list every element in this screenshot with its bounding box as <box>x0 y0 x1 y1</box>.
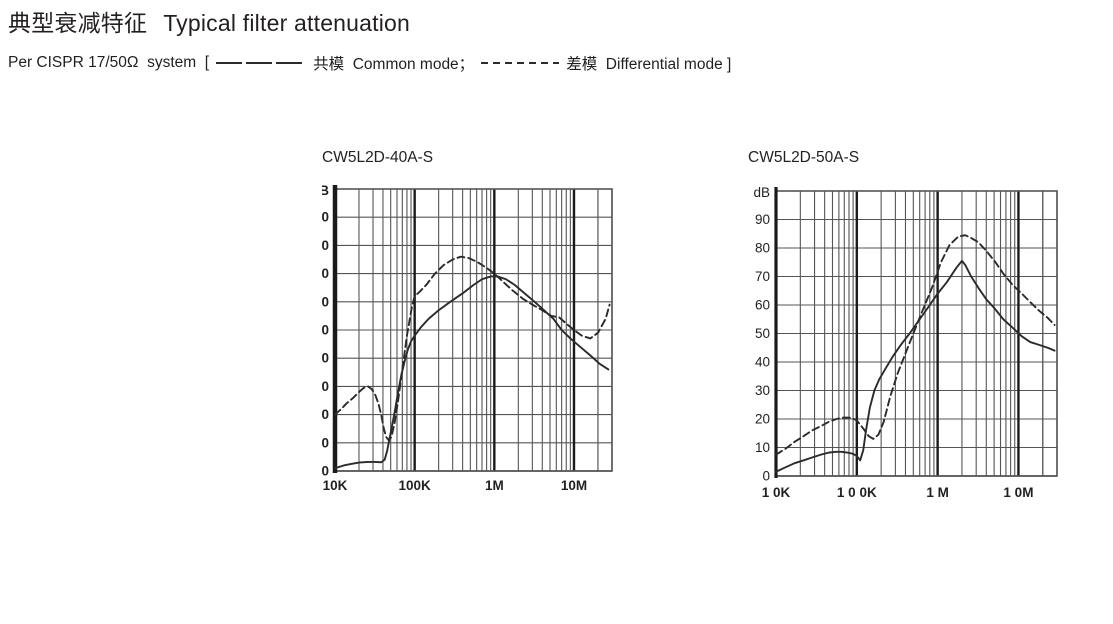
y-tick-label: 10 <box>755 440 770 455</box>
x-tick-label: 1 M <box>926 485 949 500</box>
y-tick-label: 50 <box>322 323 329 338</box>
plot-area: 0102030405060708090dB10K100K1M10M <box>322 182 620 499</box>
chart-title: CW5L2D-50A-S <box>748 149 859 167</box>
common-mode-curve <box>335 276 608 468</box>
page-title-en: Typical filter attenuation <box>163 10 410 36</box>
page-title: 典型衰减特征Typical filter attenuation <box>8 4 410 38</box>
grid <box>776 191 1057 476</box>
y-tick-label: 90 <box>755 212 770 227</box>
y-tick-label: 80 <box>322 238 329 253</box>
x-tick-label: 1M <box>485 478 504 493</box>
y-tick-label: 0 <box>762 469 770 484</box>
y-tick-label: 20 <box>322 407 329 422</box>
x-tick-label: 1 0K <box>762 485 791 500</box>
y-axis-unit-label: dB <box>753 185 770 200</box>
differential-mode-line-swatch <box>481 62 559 64</box>
page-title-cn: 典型衰减特征 <box>8 10 147 36</box>
differential-mode-curve <box>776 235 1055 454</box>
y-tick-label: 30 <box>322 379 329 394</box>
plot-area: 0102030405060708090dB1 0K1 0 0K1 M1 0M <box>748 182 1065 506</box>
y-tick-label: 70 <box>322 266 329 281</box>
common-mode-line-swatch <box>216 62 306 64</box>
x-tick-label: 10K <box>323 478 348 493</box>
x-tick-label: 10M <box>561 478 587 493</box>
plot-svg: 0102030405060708090dB1 0K1 0 0K1 M1 0M <box>748 182 1065 506</box>
y-tick-label: 40 <box>322 351 329 366</box>
y-tick-label: 0 <box>322 464 329 479</box>
chart-title: CW5L2D-40A-S <box>322 149 433 167</box>
y-tick-label: 60 <box>322 294 329 309</box>
x-tick-label: 1 0 0K <box>837 485 877 500</box>
legend-differential-mode-label: 差模 Differential mode ] <box>566 52 731 74</box>
plot-svg: 0102030405060708090dB10K100K1M10M <box>322 182 620 499</box>
x-tick-label: 1 0M <box>1003 485 1033 500</box>
legend: Per CISPR 17/50Ω system [ 共模 Common mode… <box>8 52 731 74</box>
y-tick-label: 90 <box>322 210 329 225</box>
x-tick-label: 100K <box>399 478 432 493</box>
y-tick-label: 30 <box>755 383 770 398</box>
y-tick-label: 70 <box>755 269 770 284</box>
y-axis-unit-label: dB <box>322 183 329 198</box>
differential-mode-curve <box>335 257 610 440</box>
y-tick-label: 40 <box>755 355 770 370</box>
y-tick-label: 20 <box>755 412 770 427</box>
y-tick-label: 60 <box>755 298 770 313</box>
grid <box>335 189 612 471</box>
legend-prefix: Per CISPR 17/50Ω system [ <box>8 54 209 72</box>
y-tick-label: 80 <box>755 241 770 256</box>
legend-common-mode-label: 共模 Common mode； <box>313 52 474 74</box>
y-tick-label: 50 <box>755 326 770 341</box>
y-tick-label: 10 <box>322 435 329 450</box>
common-mode-curve <box>776 261 1055 472</box>
